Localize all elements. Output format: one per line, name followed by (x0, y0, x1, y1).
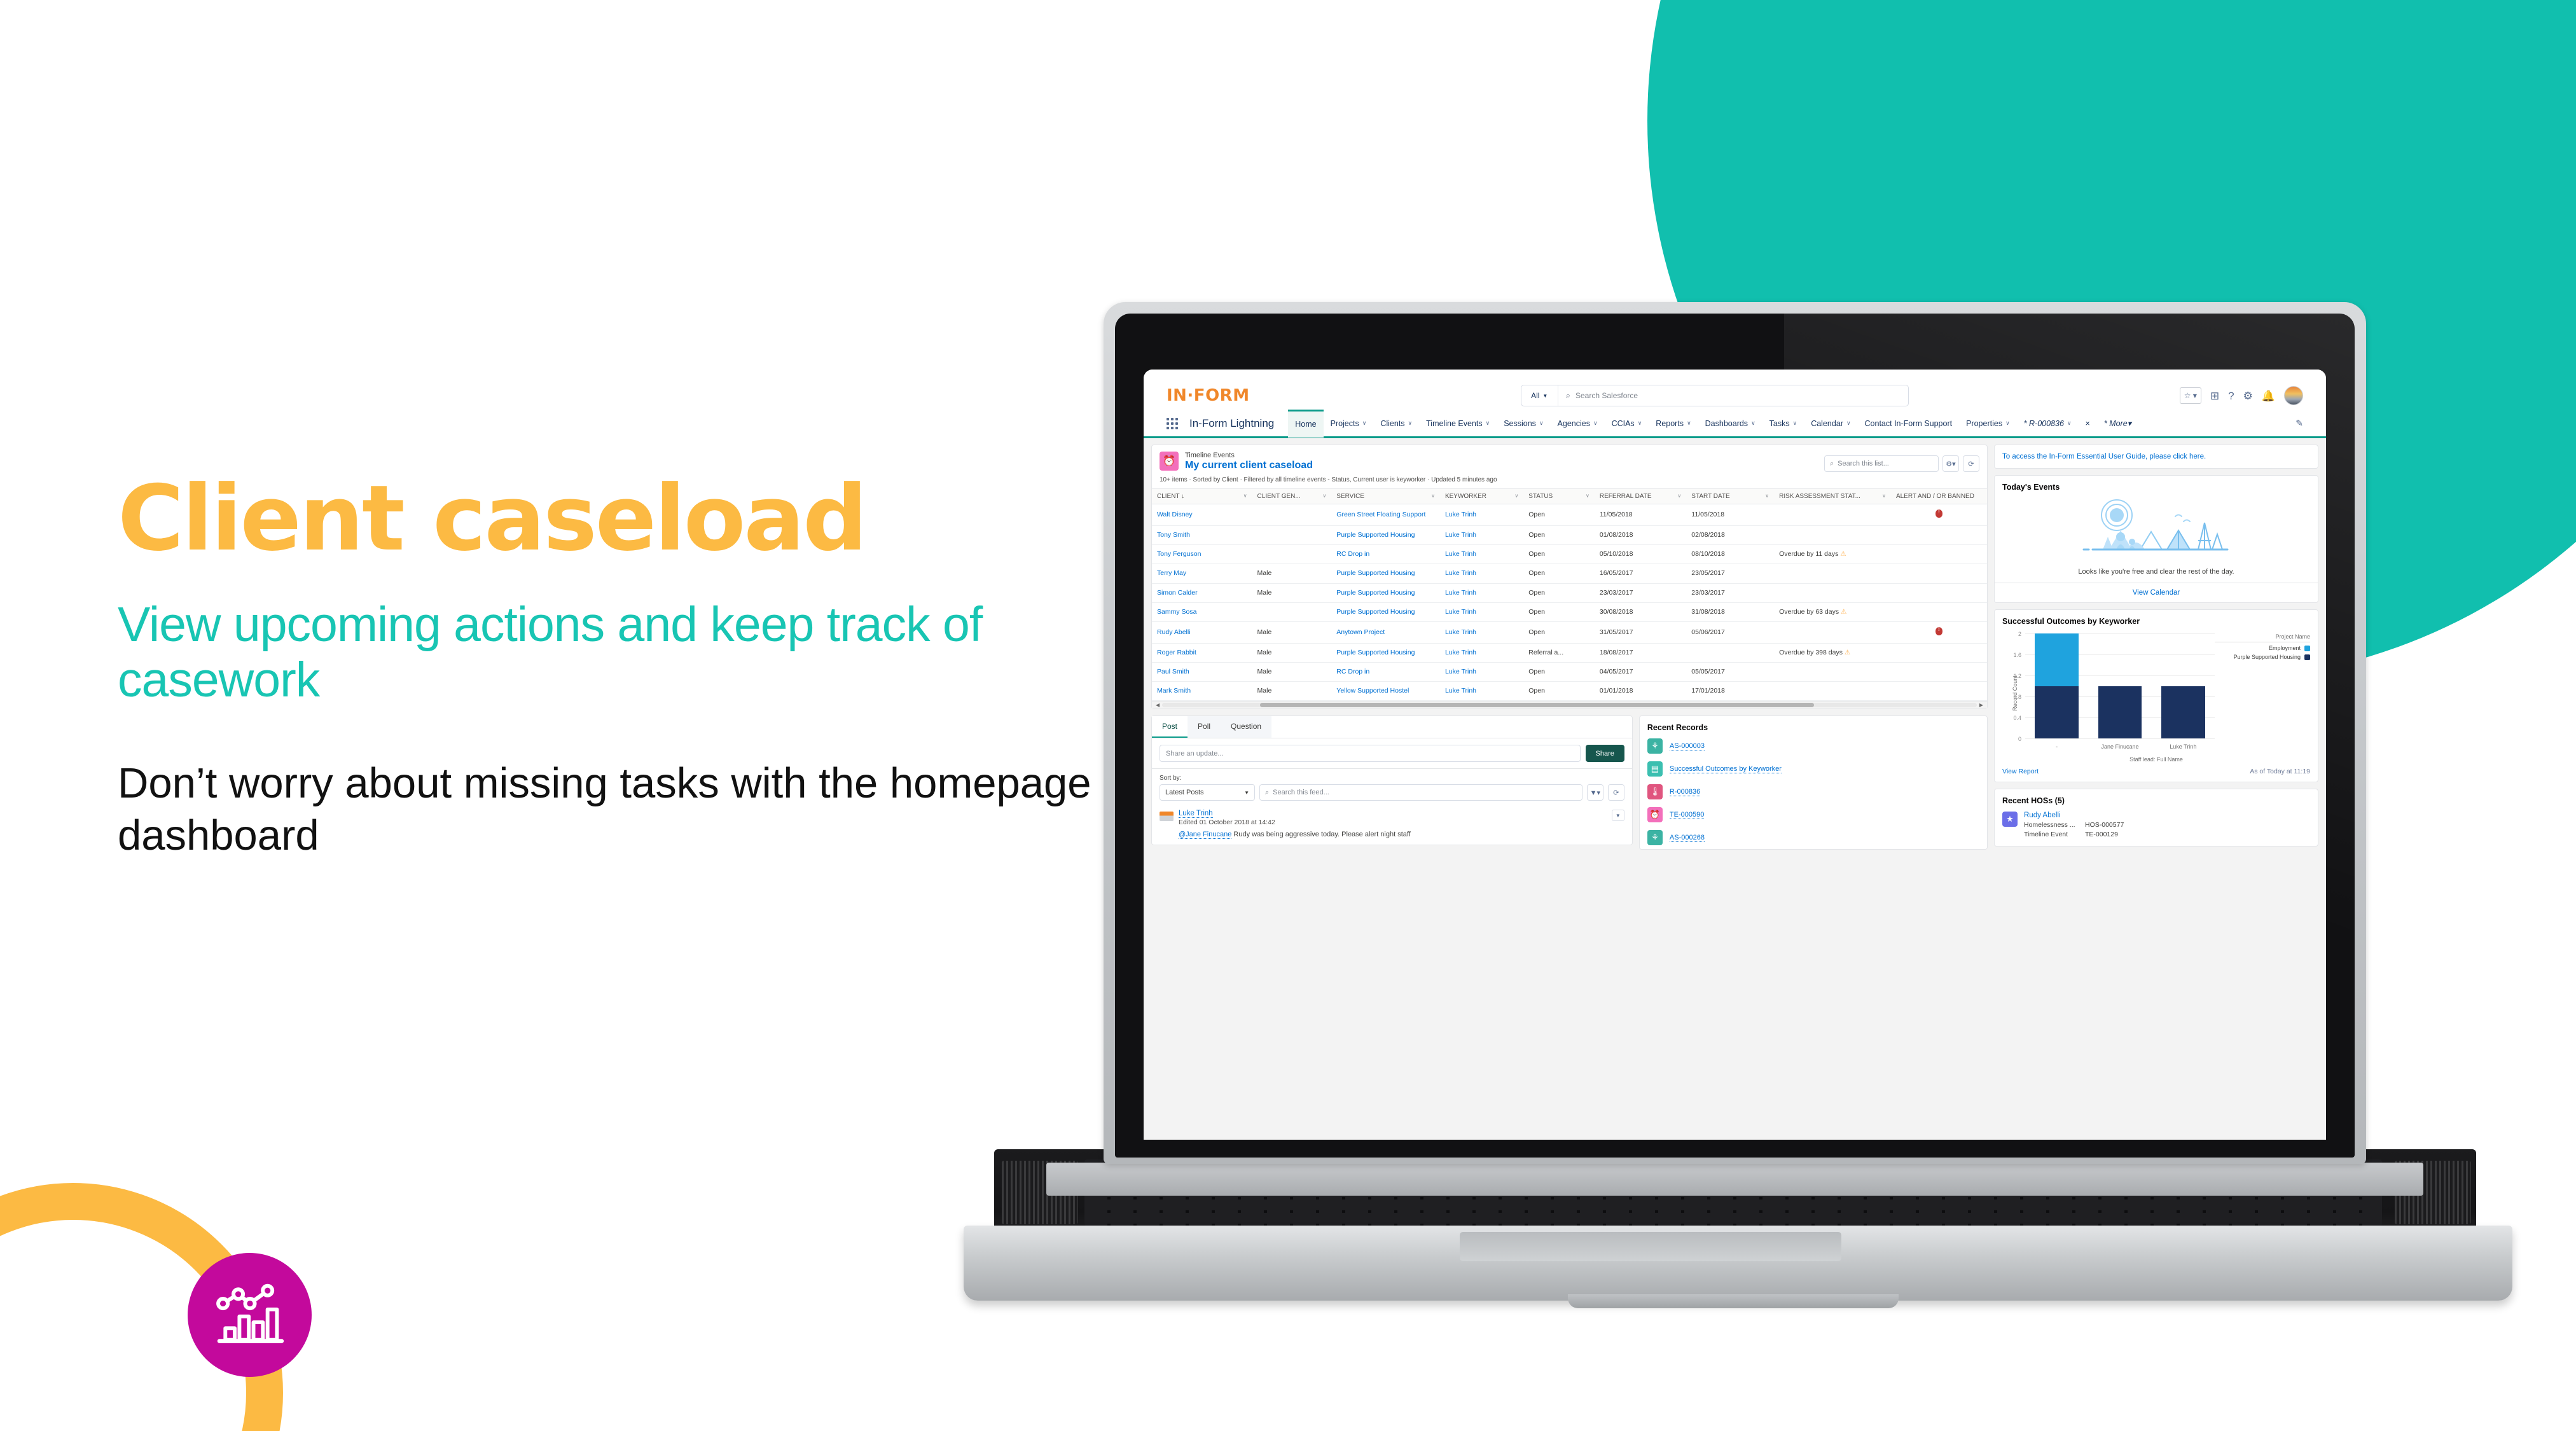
recent-records-title: Recent Records (1640, 716, 1987, 735)
outcomes-chart-card: Successful Outcomes by Keyworker Record … (1994, 609, 2318, 782)
column-label: START DATE (1691, 493, 1729, 500)
main-column: ⏰ Timeline Events My current client case… (1151, 445, 1988, 1133)
legend-title: Project Name (2215, 633, 2310, 642)
chatter-card: Post Poll Question Share an update... Sh… (1151, 715, 1633, 845)
assessment-icon: ⚘ (1647, 830, 1663, 845)
column-header-start-date[interactable]: START DATE∨ (1686, 489, 1774, 504)
setup-gear-icon[interactable]: ⚙ (2243, 391, 2253, 401)
chevron-down-icon: ∨ (1793, 420, 1797, 427)
cell-service[interactable]: Purple Supported Housing (1331, 564, 1440, 583)
chart-footer: View Report As of Today at 11:19 (1995, 763, 2318, 782)
cell-client[interactable]: Roger Rabbit (1152, 643, 1252, 662)
cell-alert-banned (1891, 545, 1987, 564)
nav-tab-properties[interactable]: Properties∨ (1959, 410, 2017, 438)
chart-title: Successful Outcomes by Keyworker (1995, 610, 2318, 630)
lower-panels: Post Poll Question Share an update... Sh… (1151, 715, 1988, 850)
list-search-input[interactable]: ⌕ Search this list... (1824, 455, 1939, 472)
nav-tab-label: Home (1295, 420, 1316, 429)
cell-keyworker[interactable]: Luke Trinh (1440, 602, 1523, 621)
list-view-card: ⏰ Timeline Events My current client case… (1151, 445, 1988, 709)
cell-status: Open (1523, 682, 1595, 701)
notifications-bell-icon[interactable]: 🔔 (2262, 391, 2275, 401)
legend-swatch (2304, 646, 2310, 651)
gridline: 0 (2025, 738, 2215, 739)
table-row[interactable]: Rudy AbelliMaleAnytown ProjectLuke Trinh… (1152, 621, 1987, 643)
cell-risk-assessment: Overdue by 11 days ⚠ (1774, 545, 1891, 564)
cell-gender: Male (1252, 583, 1332, 602)
cell-risk-assessment (1774, 682, 1891, 701)
cell-alert-banned (1891, 643, 1987, 662)
cell-risk-assessment: Overdue by 398 days ⚠ (1774, 643, 1891, 662)
list-item[interactable]: ⏰TE-000590 (1640, 803, 1987, 826)
hos-field-key: Timeline Event (2024, 831, 2085, 838)
bar-segment[interactable] (2035, 633, 2079, 686)
cell-alert-banned (1891, 682, 1987, 701)
column-label: CLIENT GEN... (1257, 493, 1301, 500)
nav-tab-label: × (2086, 419, 2090, 428)
table-header-row: CLIENT ↓∨ CLIENT GEN...∨ SERVICE∨ KEYWOR… (1152, 489, 1987, 504)
cell-referral-date: 23/03/2017 (1595, 583, 1686, 602)
cell-client[interactable]: Simon Calder (1152, 583, 1252, 602)
bar-group[interactable] (2098, 633, 2142, 738)
feed-sort-value: Latest Posts (1165, 789, 1204, 796)
cell-client[interactable]: Tony Smith (1152, 526, 1252, 545)
cell-client[interactable]: Terry May (1152, 564, 1252, 583)
column-header-service[interactable]: SERVICE∨ (1331, 489, 1440, 504)
cell-service[interactable]: RC Drop in (1331, 545, 1440, 564)
cell-alert-banned (1891, 583, 1987, 602)
chart-plot: Record Count 00.40.81.21.62 -Jane Finuca… (1998, 631, 2215, 755)
table-row[interactable]: Simon CalderMalePurple Supported Housing… (1152, 583, 1987, 602)
help-icon[interactable]: ? (2228, 391, 2234, 401)
nav-tab-label: * R-000836 (2024, 419, 2064, 428)
chart-legend: Project Name EmploymentPurple Supported … (2215, 631, 2310, 755)
cell-start-date: 05/06/2017 (1686, 621, 1774, 643)
recent-record-link[interactable]: AS-000268 (1670, 834, 1705, 842)
promo-slide: Client caseload View upcoming actions an… (0, 0, 2576, 1431)
cell-status: Open (1523, 583, 1595, 602)
cell-gender: Male (1252, 621, 1332, 643)
view-calendar-link[interactable]: View Calendar (1995, 583, 2318, 602)
nav-tab-home[interactable]: Home (1288, 410, 1323, 438)
nav-tab-label: Tasks (1769, 419, 1790, 428)
user-guide-card: To access the In-Form Essential User Gui… (1994, 445, 2318, 469)
cell-gender: Male (1252, 564, 1332, 583)
no-events-message: Looks like you're free and clear the res… (1995, 565, 2318, 583)
legend-entry[interactable]: Employment (2215, 645, 2310, 651)
caseload-table: CLIENT ↓∨ CLIENT GEN...∨ SERVICE∨ KEYWOR… (1152, 488, 1987, 701)
column-header-keyworker[interactable]: KEYWORKER∨ (1440, 489, 1523, 504)
cell-service[interactable]: RC Drop in (1331, 663, 1440, 682)
chevron-down-icon: ▼ (1244, 790, 1249, 796)
post-menu-icon[interactable]: ▼ (1612, 810, 1624, 821)
cell-referral-date: 30/08/2018 (1595, 602, 1686, 621)
global-search[interactable]: All ▼ ⌕ Search Salesforce (1521, 385, 1909, 406)
cell-service[interactable]: Anytown Project (1331, 621, 1440, 643)
cell-alert-banned (1891, 526, 1987, 545)
nav-tab-projects[interactable]: Projects∨ (1324, 410, 1374, 438)
chevron-down-icon: ∨ (1586, 493, 1589, 499)
cell-keyworker[interactable]: Luke Trinh (1440, 504, 1523, 526)
list-search-placeholder: Search this list... (1838, 460, 1889, 467)
list-item[interactable]: 🌡R-000836 (1640, 780, 1987, 803)
filter-icon[interactable]: ▼▾ (1587, 784, 1603, 801)
chevron-down-icon: ∨ (1687, 420, 1691, 427)
x-tick-label: - (2035, 743, 2079, 750)
table-row[interactable]: Walt DisneyGreen Street Floating Support… (1152, 504, 1987, 526)
nav-tab-label: * More▾ (2104, 418, 2131, 428)
cell-risk-assessment (1774, 526, 1891, 545)
hos-field-value: HOS-000577 (2085, 821, 2124, 829)
cell-keyworker[interactable]: Luke Trinh (1440, 621, 1523, 643)
cell-client[interactable]: Sammy Sosa (1152, 602, 1252, 621)
y-tick-label: 0 (2018, 736, 2021, 742)
chart-timestamp: As of Today at 11:19 (2250, 768, 2310, 775)
chevron-down-icon: ∨ (1765, 493, 1769, 499)
cell-keyworker[interactable]: Luke Trinh (1440, 663, 1523, 682)
table-row[interactable]: Tony SmithPurple Supported HousingLuke T… (1152, 526, 1987, 545)
column-label: REFERRAL DATE (1600, 493, 1652, 500)
nav-tab-label: Properties (1966, 419, 2002, 428)
chart-y-axis-label: Record Count (2012, 675, 2018, 711)
tab-post[interactable]: Post (1152, 716, 1188, 738)
laptop-bezel: IN·FORM All ▼ ⌕ Search Salesforce (1115, 314, 2355, 1158)
cell-start-date: 08/10/2018 (1686, 545, 1774, 564)
hos-field-value: TE-000129 (2085, 831, 2118, 838)
nav-tab-ccias[interactable]: CCIAs∨ (1605, 410, 1649, 438)
user-guide-link[interactable]: To access the In-Form Essential User Gui… (1995, 445, 2318, 468)
column-header-referral-date[interactable]: REFERRAL DATE∨ (1595, 489, 1686, 504)
y-tick-label: 0.4 (2013, 715, 2021, 721)
legend-label: Employment (2269, 645, 2301, 651)
nav-tab-contact-support[interactable]: Contact In-Form Support (1858, 410, 1960, 438)
feed-search-input[interactable]: ⌕ Search this feed... (1259, 784, 1582, 801)
recent-record-link[interactable]: TE-000590 (1670, 811, 1704, 819)
table-body: Walt DisneyGreen Street Floating Support… (1152, 504, 1987, 701)
chevron-down-icon: ∨ (1846, 420, 1851, 427)
cell-alert-banned (1891, 663, 1987, 682)
chevron-down-icon: ∨ (1751, 420, 1755, 427)
scroll-right-icon[interactable]: ▶ (1979, 702, 1983, 708)
column-label: KEYWORKER (1445, 493, 1486, 500)
cell-start-date: 02/08/2018 (1686, 526, 1774, 545)
column-header-status[interactable]: STATUS∨ (1523, 489, 1595, 504)
nav-tab-label: Projects (1331, 419, 1359, 428)
list-settings-gear-icon[interactable]: ⚙▾ (1942, 455, 1959, 472)
chevron-down-icon: ∨ (1322, 493, 1326, 499)
view-report-link[interactable]: View Report (2002, 768, 2039, 775)
feed-search-placeholder: Search this feed... (1273, 789, 1329, 796)
nav-tab-label: Calendar (1811, 419, 1843, 428)
column-label: RISK ASSESSMENT STAT... (1779, 493, 1860, 500)
x-tick-label: Luke Trinh (2161, 743, 2205, 750)
chevron-down-icon: ∨ (1362, 420, 1367, 427)
cell-alert-banned (1891, 621, 1987, 643)
alert-badge-icon (1935, 627, 1942, 635)
scrollbar-thumb[interactable] (1260, 703, 1814, 707)
feed-sort-select[interactable]: Latest Posts ▼ (1160, 784, 1255, 801)
header-icon-group: ☆ ▾ ⊞ ? ⚙ 🔔 (2180, 386, 2303, 405)
close-tab-icon[interactable]: × (2079, 410, 2097, 438)
laptop-front-notch (1568, 1294, 1899, 1308)
cell-start-date: 17/01/2018 (1686, 682, 1774, 701)
recent-records-list: ⚘AS-000003▤Successful Outcomes by Keywor… (1640, 735, 1987, 849)
nav-tab-dashboards[interactable]: Dashboards∨ (1698, 410, 1762, 438)
report-clipboard-icon: ▤ (1647, 761, 1663, 777)
column-label: CLIENT (1157, 493, 1179, 500)
search-icon: ⌕ (1265, 789, 1269, 797)
list-item[interactable]: ▤Successful Outcomes by Keyworker (1640, 757, 1987, 780)
todays-events-title: Today's Events (1995, 476, 2318, 495)
chatter-input[interactable]: Share an update... (1160, 745, 1581, 762)
pencil-icon[interactable]: ✎ (2296, 418, 2303, 429)
app-launcher-icon[interactable] (1167, 418, 1178, 429)
refresh-icon[interactable]: ⟳ (1608, 784, 1624, 801)
cell-gender: Male (1252, 682, 1332, 701)
cell-service[interactable]: Purple Supported Housing (1331, 602, 1440, 621)
cell-service[interactable]: Purple Supported Housing (1331, 583, 1440, 602)
cell-status: Referral a... (1523, 643, 1595, 662)
scrollbar-track[interactable] (1162, 703, 1977, 707)
cell-gender (1252, 526, 1332, 545)
right-sidebar: To access the In-Form Essential User Gui… (1994, 445, 2318, 1133)
y-tick-label: 1.6 (2013, 652, 2021, 658)
list-item: ★ Rudy Abelli Homelessness ...HOS-000577… (1995, 809, 2318, 846)
y-tick-label: 2 (2018, 631, 2021, 637)
chart-area: Record Count 00.40.81.21.62 -Jane Finuca… (1995, 630, 2318, 755)
recent-record-link[interactable]: Successful Outcomes by Keyworker (1670, 765, 1782, 773)
legend-entry[interactable]: Purple Supported Housing (2215, 654, 2310, 660)
campsite-sunrise-illustration (1995, 495, 2318, 565)
nav-tab-sessions[interactable]: Sessions∨ (1497, 410, 1550, 438)
sort-by-label: Sort by: (1160, 775, 1624, 782)
y-tick-label: 0.8 (2013, 694, 2021, 700)
legend-swatch (2304, 654, 2310, 660)
cell-referral-date: 01/08/2018 (1595, 526, 1686, 545)
y-tick-label: 1.2 (2013, 673, 2021, 679)
nav-tab-record-r000836[interactable]: * R-000836∨ (2017, 410, 2079, 438)
nav-tab-agencies[interactable]: Agencies∨ (1551, 410, 1605, 438)
table-row[interactable]: Paul SmithMaleRC Drop inLuke TrinhOpen04… (1152, 663, 1987, 682)
recent-record-link[interactable]: R-000836 (1670, 788, 1700, 796)
nav-tab-label: Reports (1656, 419, 1684, 428)
search-input[interactable]: Search Salesforce (1575, 391, 1638, 400)
alert-badge-icon (1935, 509, 1942, 518)
alarm-clock-icon: ⏰ (1160, 452, 1179, 471)
chevron-down-icon: ∨ (1514, 493, 1518, 499)
scroll-left-icon[interactable]: ◀ (1156, 702, 1160, 708)
add-icon[interactable]: ⊞ (2210, 391, 2219, 401)
bar-segment[interactable] (2161, 686, 2205, 739)
share-button[interactable]: Share (1586, 745, 1624, 762)
cell-referral-date: 16/05/2017 (1595, 564, 1686, 583)
cell-risk-assessment (1774, 663, 1891, 682)
avatar (1160, 812, 1174, 821)
cell-referral-date: 18/08/2017 (1595, 643, 1686, 662)
recent-record-link[interactable]: AS-000003 (1670, 742, 1705, 750)
nav-tab-label: Dashboards (1705, 419, 1748, 428)
cell-service[interactable]: Purple Supported Housing (1331, 526, 1440, 545)
cell-start-date (1686, 643, 1774, 662)
cell-risk-assessment (1774, 504, 1891, 526)
bar-group[interactable] (2035, 633, 2079, 738)
post-timestamp: Edited 01 October 2018 at 14:42 (1179, 819, 1607, 826)
column-header-alert-banned[interactable]: ALERT AND / OR BANNED (1891, 489, 1987, 504)
chevron-down-icon: ∨ (1539, 420, 1544, 427)
chatter-tabs: Post Poll Question (1152, 716, 1632, 738)
hos-field-key: Homelessness ... (2024, 821, 2085, 829)
nav-tab-more[interactable]: * More▾ (2097, 410, 2138, 438)
chart-bars (2025, 633, 2215, 738)
list-item[interactable]: ⚘AS-000003 (1640, 735, 1987, 757)
assessment-icon: ⚘ (1647, 738, 1663, 754)
recent-records-card: Recent Records ⚘AS-000003▤Successful Out… (1639, 715, 1988, 850)
laptop-hinge (1046, 1163, 2423, 1196)
app-body: ⏰ Timeline Events My current client case… (1144, 438, 2326, 1140)
table-row[interactable]: Sammy SosaPurple Supported HousingLuke T… (1152, 602, 1987, 621)
cell-status: Open (1523, 526, 1595, 545)
legend-label: Purple Supported Housing (2233, 654, 2301, 660)
cell-service[interactable]: Purple Supported Housing (1331, 643, 1440, 662)
nav-tab-reports[interactable]: Reports∨ (1649, 410, 1698, 438)
cell-gender (1252, 545, 1332, 564)
cell-alert-banned (1891, 602, 1987, 621)
cell-referral-date: 05/10/2018 (1595, 545, 1686, 564)
chatter-composer: Share an update... Share (1152, 738, 1632, 768)
nav-tab-label: Agencies (1558, 419, 1590, 428)
nav-tab-label: Contact In-Form Support (1865, 419, 1953, 428)
warning-triangle-icon: ⚠ (1845, 649, 1850, 656)
chevron-down-icon: ∨ (1882, 493, 1886, 499)
cell-referral-date: 01/01/2018 (1595, 682, 1686, 701)
brand-logo-badge (188, 1253, 312, 1377)
laptop-trackpad (1460, 1232, 1841, 1261)
chevron-down-icon: ∨ (2067, 420, 2072, 427)
cell-risk-assessment (1774, 621, 1891, 643)
nav-tab-label: Timeline Events (1426, 419, 1482, 428)
search-icon: ⌕ (1566, 391, 1570, 401)
cell-risk-assessment: Overdue by 63 days ⚠ (1774, 602, 1891, 621)
chatter-sort-row: Sort by: Latest Posts ▼ (1152, 769, 1632, 805)
cell-risk-assessment (1774, 564, 1891, 583)
cell-alert-banned (1891, 504, 1987, 526)
column-header-risk-assessment[interactable]: RISK ASSESSMENT STAT...∨ (1774, 489, 1891, 504)
chart-axes: 00.40.81.21.62 (2025, 633, 2215, 738)
nav-tab-timeline-events[interactable]: Timeline Events∨ (1419, 410, 1497, 438)
bar-segment[interactable] (2035, 686, 2079, 739)
nav-tab-calendar[interactable]: Calendar∨ (1804, 410, 1857, 438)
cell-keyworker[interactable]: Luke Trinh (1440, 643, 1523, 662)
table-row[interactable]: Terry MayMalePurple Supported HousingLuk… (1152, 564, 1987, 583)
bar-group[interactable] (2161, 633, 2205, 738)
table-row[interactable]: Tony FergusonRC Drop inLuke TrinhOpen05/… (1152, 545, 1987, 564)
nav-tab-label: CCIAs (1612, 419, 1635, 428)
cell-client[interactable]: Mark Smith (1152, 682, 1252, 701)
star-icon: ★ (2002, 812, 2018, 827)
nav-tab-label: Clients (1380, 419, 1404, 428)
cell-keyworker[interactable]: Luke Trinh (1440, 583, 1523, 602)
todays-events-card: Today's Events (1994, 475, 2318, 603)
cell-status: Open (1523, 564, 1595, 583)
refresh-icon[interactable]: ⟳ (1963, 455, 1979, 472)
cell-gender: Male (1252, 643, 1332, 662)
chart-x-axis-label: Staff lead: Full Name (1995, 756, 2318, 763)
cell-keyworker[interactable]: Luke Trinh (1440, 682, 1523, 701)
cell-status: Open (1523, 663, 1595, 682)
cell-start-date: 11/05/2018 (1686, 504, 1774, 526)
chevron-down-icon: ∨ (1638, 420, 1642, 427)
list-view-meta: 10+ items · Sorted by Client · Filtered … (1152, 472, 1987, 488)
column-label: SERVICE (1336, 493, 1364, 500)
search-scope-select[interactable]: All ▼ (1521, 385, 1558, 406)
mention-link[interactable]: @Jane Finucane (1179, 831, 1231, 839)
cell-referral-date: 11/05/2018 (1595, 504, 1686, 526)
cell-start-date: 05/05/2017 (1686, 663, 1774, 682)
cell-start-date: 23/05/2017 (1686, 564, 1774, 583)
cell-status: Open (1523, 504, 1595, 526)
chevron-down-icon: ∨ (1431, 493, 1435, 499)
column-header-client-gender[interactable]: CLIENT GEN...∨ (1252, 489, 1332, 504)
tab-poll[interactable]: Poll (1188, 716, 1221, 738)
cell-alert-banned (1891, 564, 1987, 583)
favorites-star-icon[interactable]: ☆ ▾ (2180, 387, 2201, 404)
laptop-screen: IN·FORM All ▼ ⌕ Search Salesforce (1144, 370, 2326, 1140)
chevron-down-icon: ▼ (1542, 393, 1548, 399)
tab-question[interactable]: Question (1221, 716, 1271, 738)
list-item[interactable]: ⚘AS-000268 (1640, 826, 1987, 849)
cell-keyworker[interactable]: Luke Trinh (1440, 526, 1523, 545)
table-row[interactable]: Mark SmithMaleYellow Supported HostelLuk… (1152, 682, 1987, 701)
recent-hos-card: Recent HOSs (5) ★ Rudy Abelli Homelessne… (1994, 789, 2318, 847)
feed-post: Luke Trinh Edited 01 October 2018 at 14:… (1152, 805, 1632, 845)
bar-chart-line-icon (212, 1278, 287, 1353)
alarm-clock-icon: ⏰ (1647, 807, 1663, 822)
hos-record-name[interactable]: Rudy Abelli (2024, 812, 2310, 819)
table-row[interactable]: Roger RabbitMalePurple Supported Housing… (1152, 643, 1987, 662)
cell-client[interactable]: Tony Ferguson (1152, 545, 1252, 564)
chevron-down-icon: ∨ (1677, 493, 1681, 499)
cell-keyworker[interactable]: Luke Trinh (1440, 564, 1523, 583)
x-tick-label: Jane Finucane (2098, 743, 2142, 750)
bar-segment[interactable] (2098, 686, 2142, 739)
column-label: STATUS (1528, 493, 1553, 500)
table-horizontal-scrollbar[interactable]: ◀ ▶ (1152, 701, 1987, 709)
chevron-down-icon: ∨ (1408, 420, 1413, 427)
cell-client[interactable]: Rudy Abelli (1152, 621, 1252, 643)
cell-client[interactable]: Paul Smith (1152, 663, 1252, 682)
thermometer-icon: 🌡 (1647, 784, 1663, 799)
post-body: @Jane Finucane Rudy was being aggressive… (1179, 831, 1607, 838)
list-view-title[interactable]: My current client caseload (1185, 460, 1313, 471)
list-view-tools: ⌕ Search this list... ⚙▾ ⟳ (1824, 452, 1979, 472)
post-author[interactable]: Luke Trinh (1179, 810, 1213, 818)
cell-service[interactable]: Green Street Floating Support (1331, 504, 1440, 526)
nav-tab-tasks[interactable]: Tasks∨ (1762, 410, 1804, 438)
chevron-down-icon: ∨ (1486, 420, 1490, 427)
cell-client[interactable]: Walt Disney (1152, 504, 1252, 526)
cell-start-date: 31/08/2018 (1686, 602, 1774, 621)
avatar[interactable] (2284, 386, 2303, 405)
cell-service[interactable]: Yellow Supported Hostel (1331, 682, 1440, 701)
laptop-mockup: IN·FORM All ▼ ⌕ Search Salesforce (925, 302, 2236, 1294)
nav-tab-clients[interactable]: Clients∨ (1373, 410, 1419, 438)
app-navigation-bar: In-Form Lightning Home Projects∨ Clients… (1144, 410, 2326, 438)
column-header-client[interactable]: CLIENT ↓∨ (1152, 489, 1252, 504)
nav-tab-label: Sessions (1504, 419, 1536, 428)
list-view-object-label: Timeline Events (1185, 452, 1313, 459)
chevron-down-icon: ∨ (2005, 420, 2010, 427)
cell-keyworker[interactable]: Luke Trinh (1440, 545, 1523, 564)
